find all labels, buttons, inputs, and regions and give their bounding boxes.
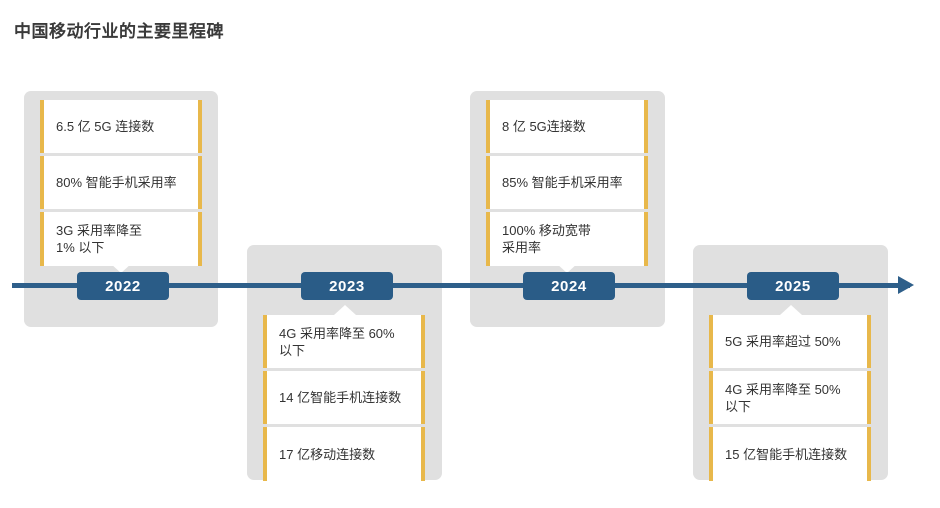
fact-stack: 4G 采用率降至 60% 以下 14 亿智能手机连接数 17 亿移动连接数 (263, 315, 425, 481)
fact-box: 85% 智能手机采用率 (486, 156, 648, 209)
year-label: 2022 (105, 278, 141, 295)
fact-box: 17 亿移动连接数 (263, 427, 425, 481)
fact-text: 8 亿 5G连接数 (502, 118, 586, 135)
fact-box: 6.5 亿 5G 连接数 (40, 100, 202, 153)
fact-text: 4G 采用率降至 60% 以下 (279, 325, 395, 359)
year-badge-2022[interactable]: 2022 (77, 272, 169, 300)
fact-text: 85% 智能手机采用率 (502, 174, 623, 191)
connector-notch-icon (334, 305, 356, 315)
fact-box: 5G 采用率超过 50% (709, 315, 871, 368)
fact-stack: 6.5 亿 5G 连接数 80% 智能手机采用率 3G 采用率降至 1% 以下 (40, 100, 202, 266)
fact-text: 14 亿智能手机连接数 (279, 389, 401, 406)
fact-text: 17 亿移动连接数 (279, 446, 375, 463)
fact-text: 15 亿智能手机连接数 (725, 446, 847, 463)
timeline-arrow-icon (898, 276, 914, 294)
fact-box: 80% 智能手机采用率 (40, 156, 202, 209)
fact-stack: 8 亿 5G连接数 85% 智能手机采用率 100% 移动宽带 采用率 (486, 100, 648, 266)
fact-text: 80% 智能手机采用率 (56, 174, 177, 191)
year-badge-2024[interactable]: 2024 (523, 272, 615, 300)
year-label: 2024 (551, 278, 587, 295)
fact-box: 3G 采用率降至 1% 以下 (40, 212, 202, 266)
fact-box: 8 亿 5G连接数 (486, 100, 648, 153)
year-badge-2023[interactable]: 2023 (301, 272, 393, 300)
fact-box: 4G 采用率降至 60% 以下 (263, 315, 425, 368)
fact-box: 14 亿智能手机连接数 (263, 371, 425, 424)
fact-box: 15 亿智能手机连接数 (709, 427, 871, 481)
fact-box: 100% 移动宽带 采用率 (486, 212, 648, 266)
fact-text: 6.5 亿 5G 连接数 (56, 118, 154, 135)
fact-text: 4G 采用率降至 50% 以下 (725, 381, 841, 415)
year-badge-2025[interactable]: 2025 (747, 272, 839, 300)
page-title: 中国移动行业的主要里程碑 (14, 17, 224, 42)
year-label: 2023 (329, 278, 365, 295)
fact-box: 4G 采用率降至 50% 以下 (709, 371, 871, 424)
year-label: 2025 (775, 278, 811, 295)
fact-text: 3G 采用率降至 1% 以下 (56, 222, 142, 256)
fact-text: 100% 移动宽带 采用率 (502, 222, 591, 256)
fact-text: 5G 采用率超过 50% (725, 333, 841, 350)
connector-notch-icon (780, 305, 802, 315)
timeline-infographic: 中国移动行业的主要里程碑 6.5 亿 5G 连接数 80% 智能手机采用率 3G… (0, 0, 940, 508)
fact-stack: 5G 采用率超过 50% 4G 采用率降至 50% 以下 15 亿智能手机连接数 (709, 315, 871, 481)
